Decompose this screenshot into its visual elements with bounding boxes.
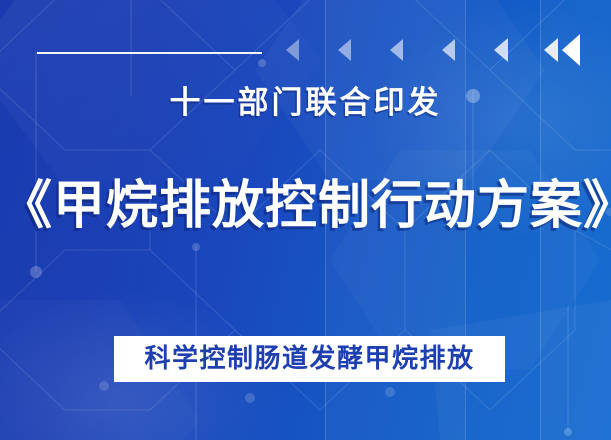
left-triangle-icon-7 (562, 34, 580, 66)
footer-banner: 科学控制肠道发酵甲烷排放 (114, 336, 505, 382)
left-triangle-icon-1 (286, 39, 299, 61)
left-triangle-icon-3 (390, 39, 403, 61)
footer-caption: 科学控制肠道发酵甲烷排放 (144, 346, 474, 372)
poster-canvas: 十一部门联合印发 《甲烷排放控制行动方案》 科学控制肠道发酵甲烷排放 (0, 0, 611, 440)
kicker-text: 十一部门联合印发 (0, 86, 611, 120)
left-triangle-icon-5 (494, 38, 508, 62)
horizontal-rule (37, 52, 262, 54)
left-triangle-icon-2 (338, 39, 351, 61)
page-title: 《甲烷排放控制行动方案》 (0, 178, 611, 235)
left-triangle-icon-6 (544, 38, 558, 62)
arrow-row (286, 33, 586, 67)
left-triangle-icon-4 (442, 39, 455, 61)
